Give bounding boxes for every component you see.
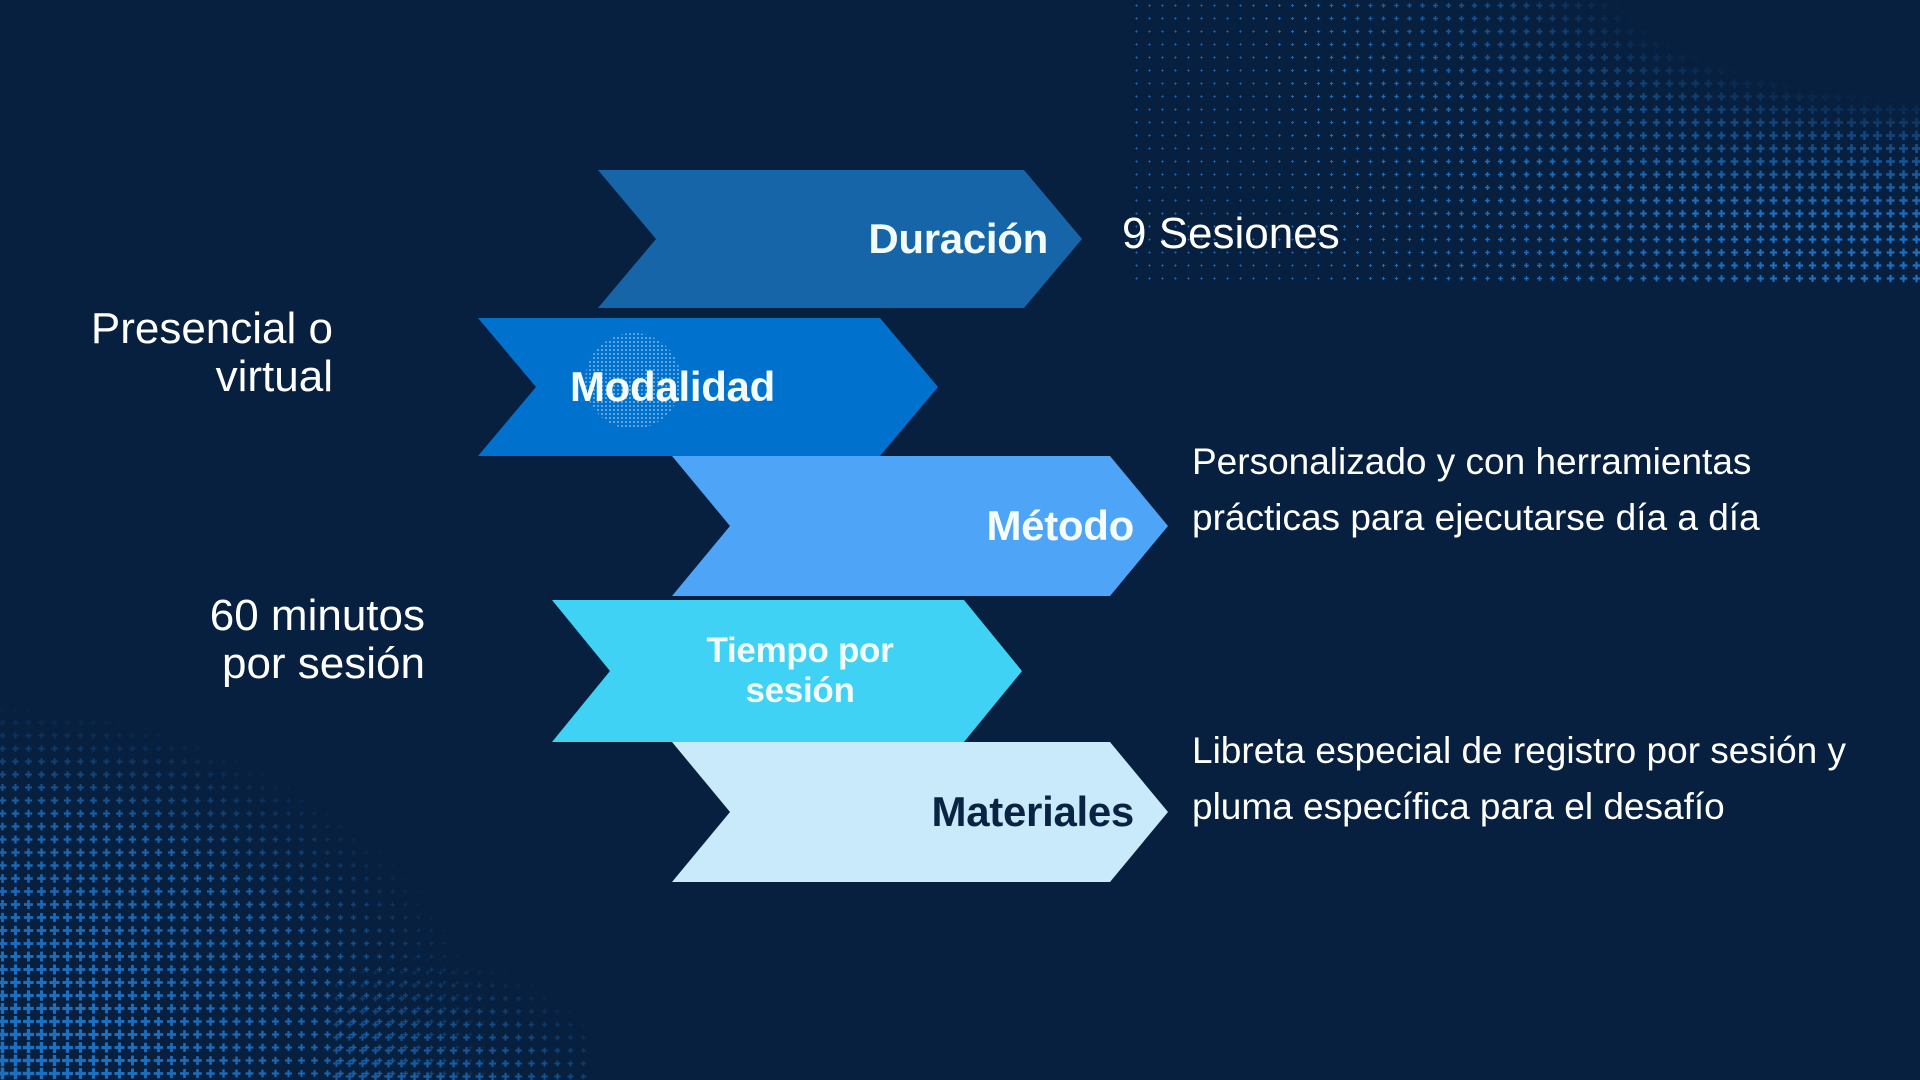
annotation-duracion: 9 Sesiones	[1122, 209, 1340, 259]
chevron-modalidad-label: Modalidad	[478, 363, 938, 411]
chevron-materiales-label: Materiales	[672, 788, 1168, 836]
chevron-tiempo-label: Tiempo por sesión	[552, 631, 1022, 711]
annotation-tiempo-por-sesion: 60 minutos por sesión	[5, 592, 425, 687]
annotation-modalidad: Presencial o virtual	[0, 305, 333, 400]
chevron-metodo[interactable]: Método	[672, 456, 1168, 596]
chevron-metodo-label: Método	[672, 502, 1168, 550]
annotation-metodo: Personalizado y con herramientas práctic…	[1192, 434, 1902, 546]
slide-canvas: Duración Modalidad Método Tiempo por ses…	[0, 0, 1920, 1080]
chevron-materiales[interactable]: Materiales	[672, 742, 1168, 882]
chevron-modalidad[interactable]: Modalidad	[478, 318, 938, 456]
halftone-cross-field-bottom-accent-icon	[330, 940, 590, 1080]
chevron-duracion[interactable]: Duración	[598, 170, 1082, 308]
chevron-tiempo-por-sesion[interactable]: Tiempo por sesión	[552, 600, 1022, 742]
halftone-cross-field-bottom-left-icon	[0, 690, 530, 1080]
annotation-materiales: Libreta especial de registro por sesión …	[1192, 723, 1912, 835]
chevron-duracion-label: Duración	[598, 215, 1082, 263]
